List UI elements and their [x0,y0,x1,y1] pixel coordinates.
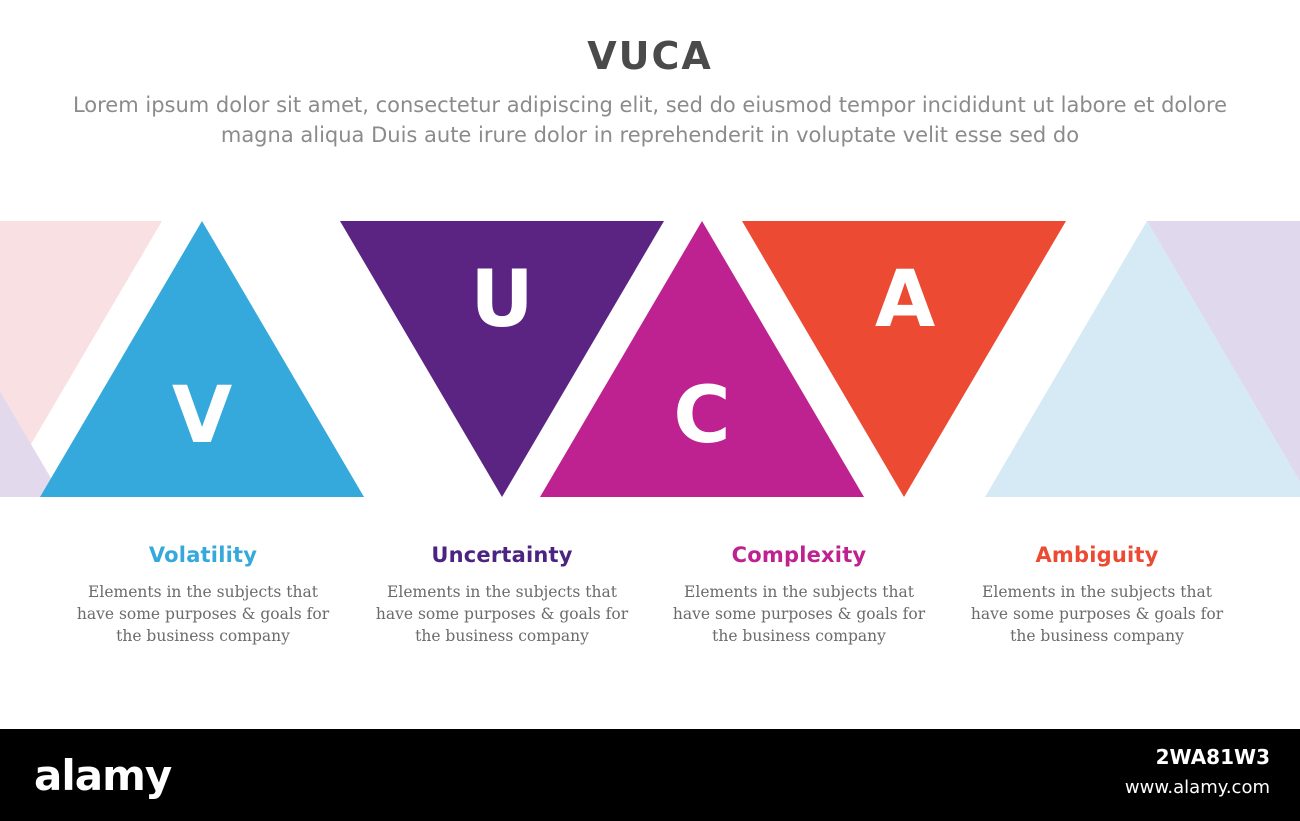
image-id: 2WA81W3 [970,745,1270,769]
triangle-band: V U C A [0,221,1300,497]
description-uncertainty: Elements in the subjects that have some … [352,581,652,647]
column-uncertainty: Uncertainty Elements in the subjects tha… [352,497,652,647]
description-ambiguity: Elements in the subjects that have some … [947,581,1247,647]
watermark-footer: alamy 2WA81W3 www.alamy.com [0,729,1300,821]
heading-volatility: Volatility [53,543,353,567]
description-volatility: Elements in the subjects that have some … [53,581,353,647]
alamy-logo: alamy [34,751,171,800]
column-complexity: Complexity Elements in the subjects that… [649,497,949,647]
column-volatility: Volatility Elements in the subjects that… [53,497,353,647]
heading-ambiguity: Ambiguity [947,543,1247,567]
header: VUCA Lorem ipsum dolor sit amet, consect… [0,0,1300,200]
letter-v: V [142,377,262,455]
heading-uncertainty: Uncertainty [352,543,652,567]
page-subtitle: Lorem ipsum dolor sit amet, consectetur … [65,90,1235,150]
column-ambiguity: Ambiguity Elements in the subjects that … [947,497,1247,647]
footer-url: www.alamy.com [970,777,1270,798]
letter-a: A [845,261,965,339]
description-complexity: Elements in the subjects that have some … [649,581,949,647]
infographic-page: VUCA Lorem ipsum dolor sit amet, consect… [0,0,1300,821]
label-row: Volatility Elements in the subjects that… [0,497,1300,697]
right-lavender-triangle [1147,221,1300,497]
heading-complexity: Complexity [649,543,949,567]
page-title: VUCA [0,34,1300,78]
